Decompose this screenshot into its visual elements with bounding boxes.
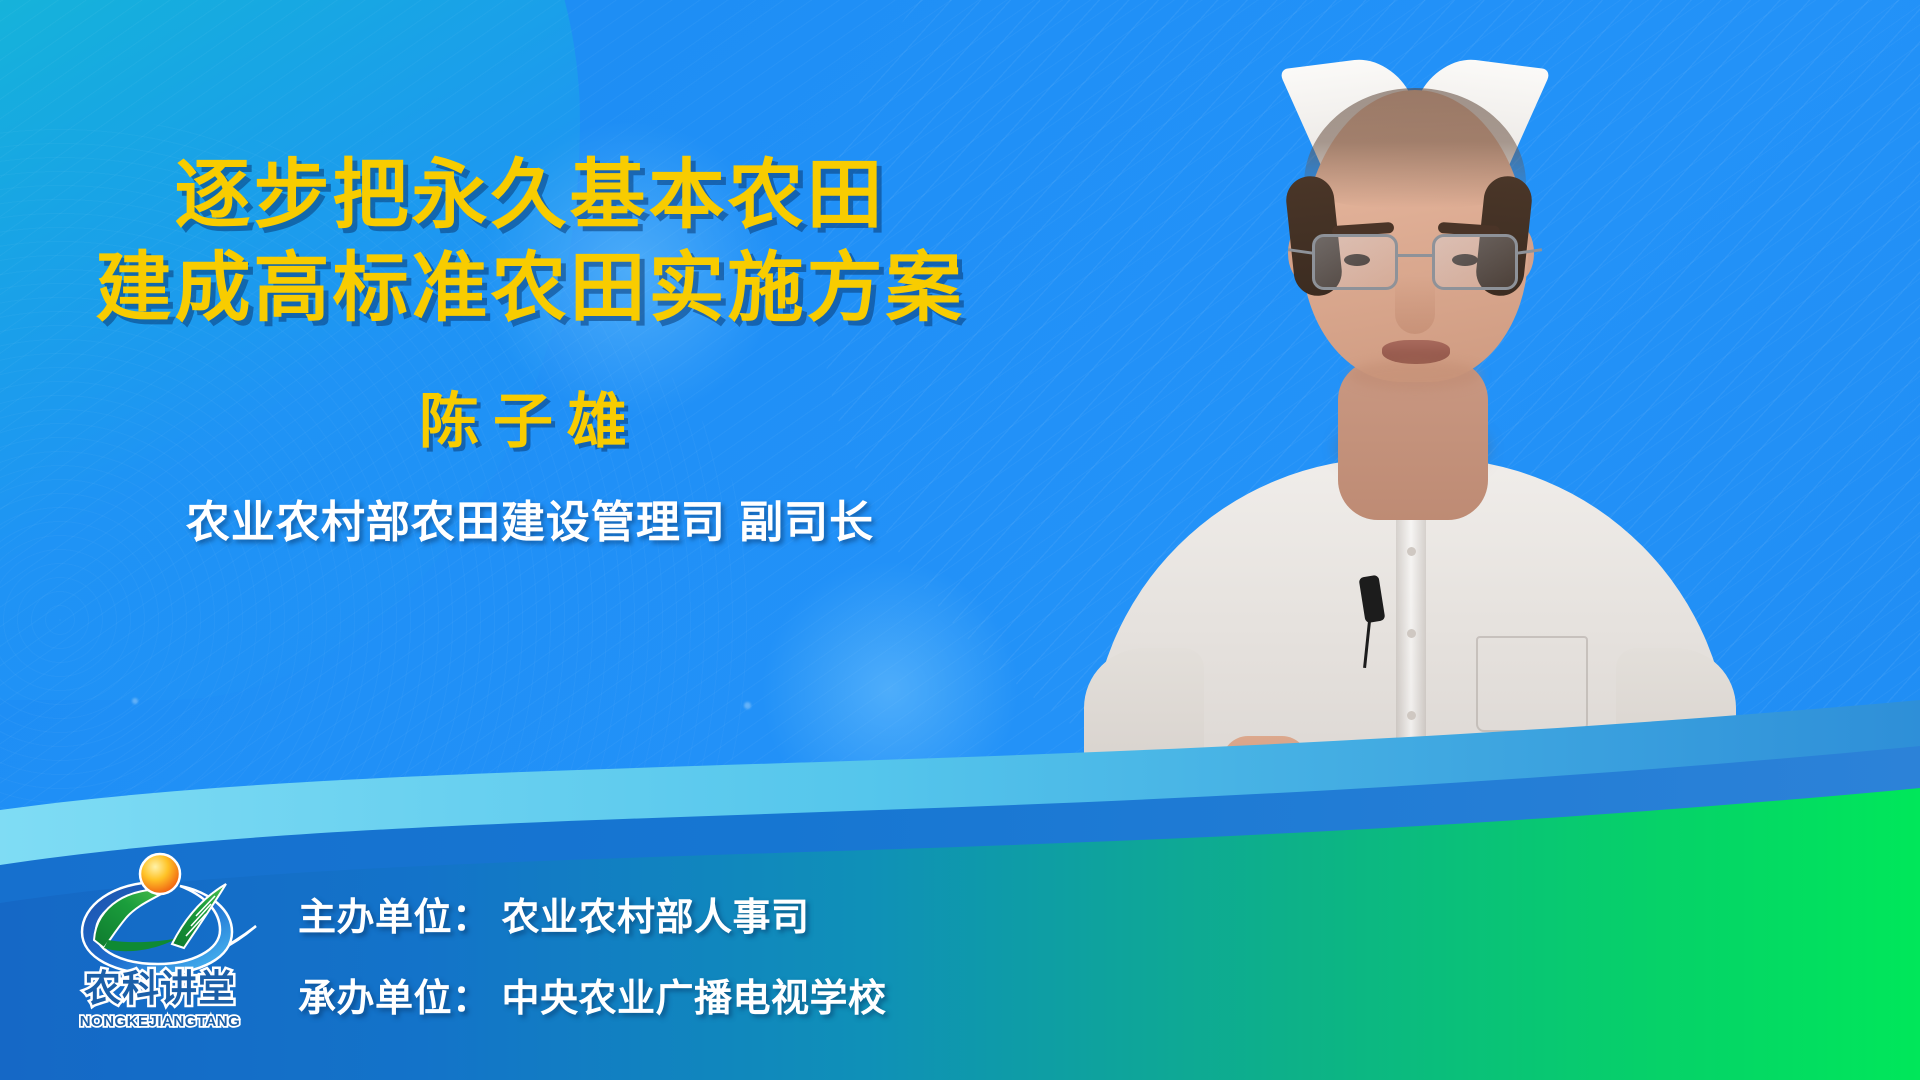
footer: 农科讲堂 NONGKEJIANGTANG 主办单位： 农业农村部人事司 承办单位… <box>0 780 1920 1080</box>
presenter-chin-shadow <box>1348 360 1482 390</box>
credit-organizer: 主办单位： 农业农村部人事司 <box>298 886 887 941</box>
glasses-lens-left <box>1312 234 1398 290</box>
title-block: 逐步把永久基本农田 建成高标准农田实施方案 陈子雄 农业农村部农田建设管理司 副… <box>0 150 1060 550</box>
logo-leaf-arc-lower <box>104 938 178 951</box>
presenter-shirt-button <box>1407 547 1416 556</box>
credits-block: 主办单位： 农业农村部人事司 承办单位： 中央农业广播电视学校 <box>298 886 887 1022</box>
speaker-role: 农业农村部农田建设管理司 副司长 <box>0 486 1060 550</box>
presenter-shirt-button <box>1407 629 1416 638</box>
title-line-2: 建成高标准农田实施方案 <box>0 243 1060 336</box>
title-line-1: 逐步把永久基本农田 <box>0 150 1060 243</box>
logo[interactable]: 农科讲堂 NONGKEJIANGTANG <box>60 848 260 1038</box>
logo-name-cn: 农科讲堂 <box>60 958 260 1012</box>
speaker-name: 陈子雄 <box>0 373 1060 460</box>
glasses-lens-right <box>1432 234 1518 290</box>
logo-sun-icon <box>140 854 180 894</box>
logo-name-pinyin: NONGKEJIANGTANG <box>60 1013 260 1030</box>
glasses-bridge <box>1398 254 1434 257</box>
credit-host: 承办单位： 中央农业广播电视学校 <box>298 967 887 1022</box>
presenter-nose <box>1395 276 1435 334</box>
slide-canvas: 逐步把永久基本农田 建成高标准农田实施方案 陈子雄 农业农村部农田建设管理司 副… <box>0 0 1920 1080</box>
